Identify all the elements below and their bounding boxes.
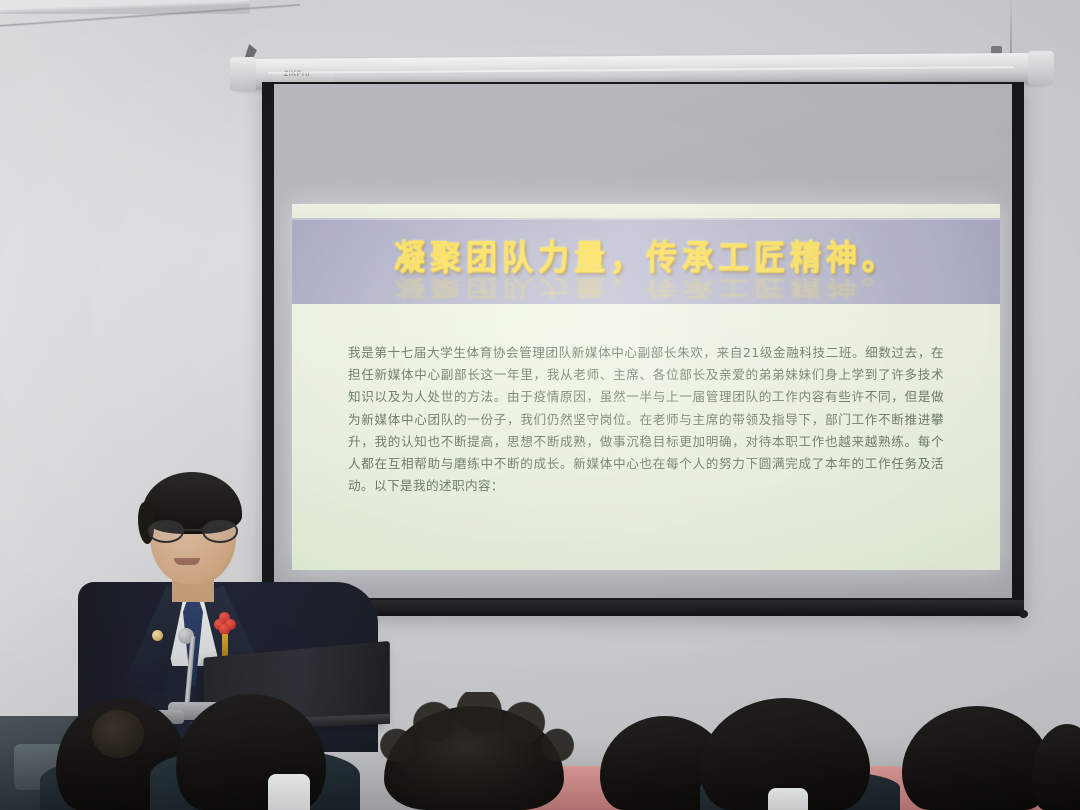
projected-slide: 凝聚团队力量，传承工匠精神。 凝聚团队力量，传承工匠精神。 我是第十七届大学生体…: [292, 204, 1000, 570]
eyeglass-lens-right: [202, 520, 238, 543]
audience-shirt-collar: [768, 788, 808, 810]
audience-head: [902, 706, 1052, 810]
roller-end-cap-left: [230, 57, 256, 91]
slide-body: 我是第十七届大学生体育协会管理团队新媒体中心副部长朱欢，来自21级金融科技二班。…: [292, 304, 1000, 570]
flower-corsage-icon: [214, 612, 236, 634]
presentation-photo-scene: ZIKPro 凝聚团队力量，传承工匠精神。 凝聚团队力量，传承工匠精神。 我是第…: [0, 0, 1080, 810]
slide-title: 凝聚团队力量，传承工匠精神。: [394, 229, 898, 279]
roller-end-cap-right: [1028, 51, 1054, 85]
slide-top-margin: [292, 204, 1000, 218]
slide-body-paragraph: 我是第十七届大学生体育协会管理团队新媒体中心副部长朱欢，来自21级金融科技二班。…: [348, 342, 944, 497]
audience-foreground: [0, 690, 1080, 810]
audience-curly-hair: [372, 692, 578, 768]
presenter-mouth: [174, 558, 200, 565]
eyeglass-bridge: [184, 529, 202, 531]
corsage-ribbon: [222, 634, 228, 656]
audience-shirt-collar: [268, 774, 310, 810]
screen-power-cable: [1010, 0, 1012, 60]
ceiling-edge-line: [0, 4, 300, 28]
eyeglasses-icon: [148, 520, 238, 544]
eyeglass-lens-left: [148, 520, 184, 543]
audience-hair-bun: [92, 710, 144, 758]
slide-title-band: 凝聚团队力量，传承工匠精神。 凝聚团队力量，传承工匠精神。: [292, 218, 1000, 304]
roller-logo-text: ZIKPro: [284, 70, 310, 78]
lapel-badge-icon: [152, 630, 163, 641]
weight-bar-nub-right: [1019, 610, 1028, 618]
